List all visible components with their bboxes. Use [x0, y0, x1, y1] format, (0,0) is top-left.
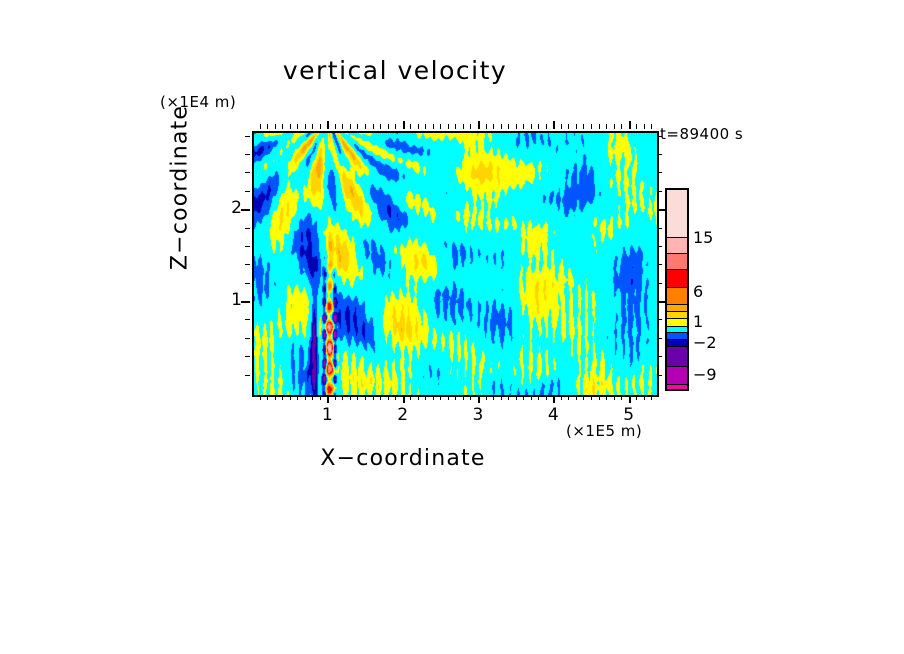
- tick-mark: [657, 172, 662, 173]
- tick-mark: [403, 121, 405, 129]
- tick-mark: [657, 228, 662, 229]
- tick-mark: [657, 136, 662, 137]
- tick-mark: [245, 136, 250, 137]
- colorbar-segment: [667, 319, 687, 327]
- tick-mark: [342, 395, 343, 400]
- tick-mark: [245, 375, 250, 376]
- tick-mark: [455, 124, 456, 129]
- figure-canvas: vertical velocity (×1E4 m) t=89400 s 123…: [0, 0, 904, 654]
- colorbar-segment: [667, 367, 687, 385]
- tick-mark: [275, 124, 276, 129]
- tick-mark: [508, 395, 509, 400]
- tick-mark: [651, 124, 652, 129]
- colorbar-segment: [667, 254, 687, 271]
- tick-mark: [365, 124, 366, 129]
- tick-mark: [636, 395, 637, 400]
- tick-mark: [546, 124, 547, 129]
- tick-mark: [433, 395, 434, 400]
- colorbar-segment: [667, 238, 687, 254]
- tick-mark: [327, 121, 329, 129]
- tick-mark: [657, 191, 662, 192]
- tick-mark: [245, 191, 250, 192]
- colorbar-segment: [667, 270, 687, 288]
- tick-mark: [657, 356, 662, 357]
- tick-mark: [516, 124, 517, 129]
- tick-mark: [501, 395, 502, 400]
- tick-mark: [365, 395, 366, 400]
- contour-plot-area: [252, 131, 659, 397]
- tick-mark: [448, 124, 449, 129]
- tick-mark: [651, 395, 652, 400]
- tick-mark: [320, 124, 321, 129]
- tick-mark: [403, 395, 405, 403]
- tick-mark: [245, 356, 250, 357]
- tick-mark: [342, 124, 343, 129]
- tick-mark: [657, 319, 662, 320]
- y-tick-label: 2: [212, 198, 242, 218]
- tick-mark: [591, 124, 592, 129]
- tick-mark: [561, 395, 562, 400]
- tick-mark: [523, 124, 524, 129]
- tick-mark: [395, 395, 396, 400]
- tick-mark: [478, 395, 480, 403]
- tick-mark: [440, 124, 441, 129]
- tick-mark: [410, 124, 411, 129]
- x-tick-label: 2: [388, 405, 418, 425]
- tick-mark: [531, 124, 532, 129]
- tick-mark: [621, 395, 622, 400]
- tick-mark: [546, 395, 547, 400]
- tick-mark: [629, 121, 631, 129]
- tick-mark: [553, 121, 555, 129]
- tick-mark: [282, 124, 283, 129]
- tick-mark: [553, 395, 555, 403]
- tick-mark: [657, 154, 662, 155]
- tick-mark: [245, 283, 250, 284]
- colorbar-segment: [667, 347, 687, 367]
- tick-mark: [538, 124, 539, 129]
- tick-mark: [657, 338, 662, 339]
- tick-mark: [267, 124, 268, 129]
- tick-mark: [614, 124, 615, 129]
- tick-mark: [576, 395, 577, 400]
- tick-mark: [636, 124, 637, 129]
- tick-mark: [350, 395, 351, 400]
- tick-mark: [410, 395, 411, 400]
- tick-mark: [591, 395, 592, 400]
- tick-mark: [629, 395, 631, 403]
- tick-mark: [531, 395, 532, 400]
- colorbar-segment: [667, 333, 687, 340]
- tick-mark: [425, 395, 426, 400]
- tick-mark: [245, 319, 250, 320]
- colorbar-segment: [667, 312, 687, 319]
- tick-mark: [606, 124, 607, 129]
- x-tick-label: 3: [463, 405, 493, 425]
- tick-mark: [245, 228, 250, 229]
- tick-mark: [260, 395, 261, 400]
- tick-mark: [305, 395, 306, 400]
- tick-mark: [516, 395, 517, 400]
- colorbar-label: −2: [693, 333, 717, 352]
- x-tick-label: 4: [538, 405, 568, 425]
- tick-mark: [606, 395, 607, 400]
- tick-mark: [350, 124, 351, 129]
- tick-mark: [267, 395, 268, 400]
- tick-mark: [312, 395, 313, 400]
- tick-mark: [583, 395, 584, 400]
- tick-mark: [241, 301, 250, 303]
- tick-mark: [657, 375, 662, 376]
- tick-mark: [599, 124, 600, 129]
- tick-mark: [561, 124, 562, 129]
- page-title: vertical velocity: [0, 56, 847, 85]
- tick-mark: [614, 395, 615, 400]
- tick-mark: [335, 395, 336, 400]
- tick-mark: [395, 124, 396, 129]
- tick-mark: [418, 395, 419, 400]
- tick-mark: [576, 124, 577, 129]
- tick-mark: [568, 395, 569, 400]
- tick-mark: [357, 124, 358, 129]
- tick-mark: [275, 395, 276, 400]
- tick-mark: [448, 395, 449, 400]
- tick-mark: [290, 395, 291, 400]
- tick-mark: [470, 124, 471, 129]
- x-axis-multiplier-label: (×1E5 m): [566, 422, 642, 440]
- colorbar-segment: [667, 305, 687, 312]
- colorbar: [665, 188, 689, 391]
- colorbar-segment: [667, 385, 687, 391]
- tick-mark: [583, 124, 584, 129]
- tick-mark: [335, 124, 336, 129]
- tick-mark: [425, 124, 426, 129]
- tick-mark: [568, 124, 569, 129]
- tick-mark: [297, 124, 298, 129]
- tick-mark: [380, 395, 381, 400]
- tick-mark: [327, 395, 329, 403]
- tick-mark: [312, 124, 313, 129]
- tick-mark: [260, 124, 261, 129]
- vertical-velocity-heatmap: [254, 133, 657, 395]
- tick-mark: [388, 395, 389, 400]
- tick-mark: [305, 124, 306, 129]
- tick-mark: [388, 124, 389, 129]
- tick-mark: [523, 395, 524, 400]
- tick-mark: [245, 264, 250, 265]
- tick-mark: [538, 395, 539, 400]
- timestamp-label: t=89400 s: [660, 125, 743, 143]
- tick-mark: [433, 124, 434, 129]
- tick-mark: [486, 124, 487, 129]
- colorbar-label: −9: [693, 365, 717, 384]
- tick-mark: [463, 395, 464, 400]
- tick-mark: [282, 395, 283, 400]
- tick-mark: [245, 246, 250, 247]
- tick-mark: [486, 395, 487, 400]
- tick-mark: [380, 124, 381, 129]
- y-axis-title: Z−coordinate: [168, 93, 193, 283]
- tick-mark: [373, 395, 374, 400]
- tick-mark: [241, 209, 250, 211]
- tick-mark: [657, 246, 662, 247]
- tick-mark: [493, 395, 494, 400]
- tick-mark: [644, 395, 645, 400]
- tick-mark: [245, 172, 250, 173]
- colorbar-segment: [667, 190, 687, 238]
- tick-mark: [657, 264, 662, 265]
- tick-mark: [478, 121, 480, 129]
- y-tick-label: 1: [212, 290, 242, 310]
- tick-mark: [320, 395, 321, 400]
- tick-mark: [245, 338, 250, 339]
- tick-mark: [418, 124, 419, 129]
- tick-mark: [508, 124, 509, 129]
- tick-mark: [493, 124, 494, 129]
- tick-mark: [290, 124, 291, 129]
- colorbar-segment: [667, 288, 687, 305]
- x-axis-title: X−coordinate: [0, 446, 855, 471]
- tick-mark: [501, 124, 502, 129]
- colorbar-label: 1: [693, 312, 703, 331]
- tick-mark: [470, 395, 471, 400]
- tick-mark: [297, 395, 298, 400]
- tick-mark: [455, 395, 456, 400]
- colorbar-segment: [667, 340, 687, 348]
- tick-mark: [644, 124, 645, 129]
- tick-mark: [357, 395, 358, 400]
- tick-mark: [657, 283, 662, 284]
- colorbar-label: 6: [693, 282, 703, 301]
- colorbar-label: 15: [693, 228, 713, 247]
- tick-mark: [373, 124, 374, 129]
- tick-mark: [440, 395, 441, 400]
- tick-mark: [621, 124, 622, 129]
- tick-mark: [599, 395, 600, 400]
- tick-mark: [463, 124, 464, 129]
- tick-mark: [245, 154, 250, 155]
- x-tick-label: 1: [312, 405, 342, 425]
